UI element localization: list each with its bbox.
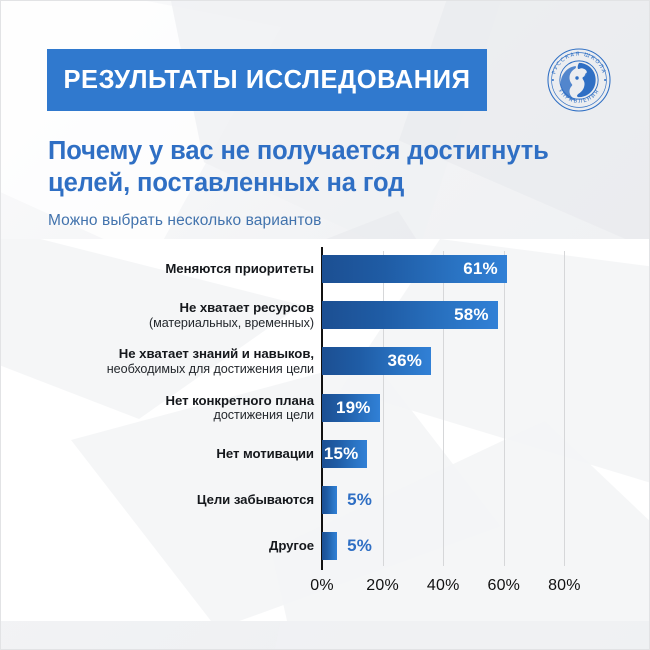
x-axis-tick-label: 60% bbox=[487, 577, 520, 595]
bar-category-label: Не хватает ресурсов(материальных, времен… bbox=[54, 300, 314, 330]
bar-category-label-line1: Не хватает ресурсов bbox=[179, 300, 314, 315]
bar-value-label: 58% bbox=[454, 305, 498, 325]
chart-row: Не хватает знаний и навыков,необходимых … bbox=[1, 347, 650, 375]
bar-chart: Меняются приоритеты61%Не хватает ресурсо… bbox=[1, 239, 650, 621]
bar: 61% bbox=[322, 255, 507, 283]
chart-panel: Меняются приоритеты61%Не хватает ресурсо… bbox=[1, 239, 650, 621]
bar-value-label: 5% bbox=[347, 490, 372, 510]
bar: 58% bbox=[322, 301, 498, 329]
logo-icon: РУССКАЯ ШКОЛА УПРАВЛЕНИЯ bbox=[546, 47, 612, 113]
bar-category-label-line2: необходимых для достижения цели bbox=[54, 362, 314, 377]
bar-category-label: Меняются приоритеты bbox=[54, 261, 314, 277]
x-axis-tick-label: 20% bbox=[366, 577, 399, 595]
bar-value-label: 36% bbox=[387, 351, 431, 371]
chart-row: Нет мотивации15% bbox=[1, 440, 650, 468]
x-axis-tick-label: 0% bbox=[310, 577, 334, 595]
chart-row: Не хватает ресурсов(материальных, времен… bbox=[1, 301, 650, 329]
bar-category-label-line2: (материальных, временных) bbox=[54, 316, 314, 331]
bar: 19% bbox=[322, 394, 380, 422]
bar: 15% bbox=[322, 440, 367, 468]
chart-row: Другое5% bbox=[1, 532, 650, 560]
headline-line-2: целей, поставленных на год bbox=[48, 167, 608, 199]
bar-category-label-line1: Не хватает знаний и навыков, bbox=[119, 346, 314, 361]
page-title: Почему у вас не получается достигнуть це… bbox=[48, 135, 608, 200]
banner-title: РЕЗУЛЬТАТЫ ИССЛЕДОВАНИЯ bbox=[63, 66, 470, 95]
infographic-poster: РЕЗУЛЬТАТЫ ИССЛЕДОВАНИЯ РУССКАЯ ШКОЛА УП… bbox=[0, 0, 650, 650]
bar-category-label-line1: Цели забываются bbox=[197, 492, 314, 507]
bar-value-label: 61% bbox=[463, 259, 507, 279]
bar-category-label-line1: Нет мотивации bbox=[216, 446, 314, 461]
bar-category-label-line2: достижения цели bbox=[54, 408, 314, 423]
bar-category-label: Цели забываются bbox=[54, 492, 314, 508]
bar-category-label: Нет мотивации bbox=[54, 446, 314, 462]
chart-row: Цели забываются5% bbox=[1, 486, 650, 514]
chart-row: Меняются приоритеты61% bbox=[1, 255, 650, 283]
bar-category-label-line1: Другое bbox=[269, 538, 314, 553]
x-axis-tick-label: 40% bbox=[427, 577, 460, 595]
bar: 36% bbox=[322, 347, 431, 375]
bar-value-label: 19% bbox=[336, 398, 380, 418]
bar-category-label: Нет конкретного планадостижения цели bbox=[54, 392, 314, 422]
header-banner: РЕЗУЛЬТАТЫ ИССЛЕДОВАНИЯ bbox=[47, 49, 487, 111]
bar-value-label: 5% bbox=[347, 536, 372, 556]
bar-category-label: Другое bbox=[54, 538, 314, 554]
bar-category-label-line1: Меняются приоритеты bbox=[165, 261, 314, 276]
bar-category-label-line1: Нет конкретного плана bbox=[165, 392, 314, 407]
page-subtitle: Можно выбрать несколько вариантов bbox=[48, 212, 321, 230]
bar bbox=[322, 532, 337, 560]
headline-line-1: Почему у вас не получается достигнуть bbox=[48, 135, 608, 167]
bar-value-label: 15% bbox=[324, 444, 368, 464]
bar bbox=[322, 486, 337, 514]
bar-category-label: Не хватает знаний и навыков,необходимых … bbox=[54, 346, 314, 376]
chart-row: Нет конкретного планадостижения цели19% bbox=[1, 394, 650, 422]
x-axis-tick-label: 80% bbox=[548, 577, 581, 595]
